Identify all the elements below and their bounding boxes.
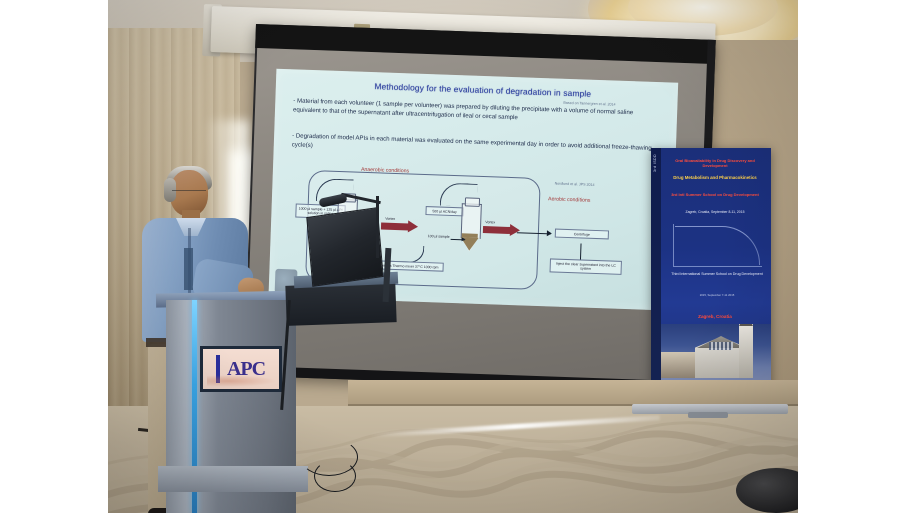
cable-coil-2 [314,460,356,492]
banner-side-text: 3rd ISDD [653,110,657,172]
banner-school-title: Third International Summer School on Dru… [671,272,763,277]
diagram-arrow-red-2 [483,226,511,234]
banner-base-leg [688,412,728,418]
presenter-badge-lanyard [184,248,193,290]
slide-title: Methodology for the evaluation of degrad… [318,79,648,101]
diagram-tube-aerobic [460,197,480,250]
podium-logo-swirl [207,375,277,387]
diagram-box-acn: 500 µl ACN/day [425,206,463,217]
microphone-pole [376,196,379,258]
podium-logo: APC [203,349,279,389]
presenter-glasses [172,190,206,197]
aerobic-label: Aerobic conditions [548,196,591,203]
diagram-vortex-label-2: Vortex [485,220,495,224]
laptop-body [285,282,396,326]
slide-citation-top: Based on Tannergren et al. 2014 [563,101,615,107]
banner-church-tower [739,324,753,378]
banner-church-roof-pattern [709,342,733,350]
banner-date: Zagreb, Croatia, September 8-11, 2015 [665,210,765,214]
banner-school-sub: 2015, September 7-11 2015 [671,294,763,298]
podium-sign: APC [200,346,282,392]
banner-location: Zagreb, Croatia [665,314,765,319]
conference-photograph: Methodology for the evaluation of degrad… [108,0,798,513]
laptop-screen [306,207,383,287]
diagram-box-centrifuge: Centrifuge [555,229,609,240]
podium-base [158,466,308,492]
diagram-box-inject: Inject the clear supernatant into the LC… [550,258,622,274]
photo-canvas: Methodology for the evaluation of degrad… [0,0,906,513]
diagram-vortex-label-1: Vortex [385,217,395,221]
banner-left-edge [651,148,661,406]
banner-line-2: Drug Metabolism and Pharmacokinetics [665,175,765,181]
banner-church-spire [739,324,753,326]
rollup-banner: Oral Bioavailability in Drug Discovery a… [651,148,771,406]
banner-line-3: 3rd Intl Summer School on Drug Developme… [665,192,765,197]
diagram-transfer-label: 100 µl sample [427,234,451,239]
diagram-connector-line [580,243,582,259]
diagram-arrow-red-1 [381,222,409,230]
projection-screen: Methodology for the evaluation of degrad… [244,24,716,392]
slide-bullet-2: - Degradation of model APIs in each mate… [292,132,660,162]
banner-line-1: Oral Bioavailability in Drug Discovery a… [665,158,765,168]
